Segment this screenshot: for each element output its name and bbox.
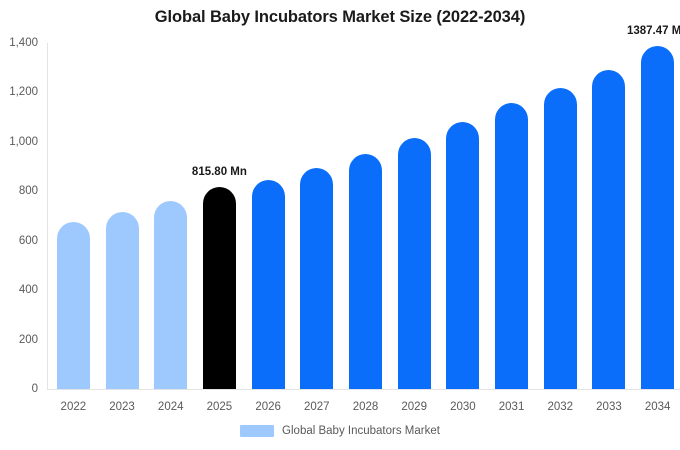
x-axis-tick-label: 2026 [255, 401, 281, 413]
bar-slot [349, 43, 382, 389]
bar-2034[interactable] [641, 46, 674, 389]
chart-title: Global Baby Incubators Market Size (2022… [0, 8, 680, 27]
bar-2029[interactable] [398, 138, 431, 389]
y-axis-tick-label: 600 [0, 235, 38, 247]
y-axis-tick-label: 1,000 [0, 136, 38, 148]
bar-slot [300, 43, 333, 389]
bar-2030[interactable] [446, 122, 479, 389]
bar-slot [398, 43, 431, 389]
y-axis-tick-label: 800 [0, 185, 38, 197]
x-axis-tick-label: 2023 [109, 401, 135, 413]
bar-slot [641, 43, 674, 389]
bar-2033[interactable] [592, 70, 625, 389]
bar-2024[interactable] [154, 201, 187, 389]
legend-swatch [240, 425, 274, 437]
bar-slot [106, 43, 139, 389]
y-axis-tick-label: 0 [0, 383, 38, 395]
x-axis-tick-label: 2025 [207, 401, 233, 413]
bar-slot [495, 43, 528, 389]
x-axis-tick-label: 2034 [645, 401, 671, 413]
bar-2026[interactable] [252, 180, 285, 389]
chart-legend: Global Baby Incubators Market [0, 425, 680, 437]
x-axis-tick-label: 2029 [401, 401, 427, 413]
x-axis-tick-label: 2028 [353, 401, 379, 413]
bar-value-label-2025: 815.80 Mn [192, 166, 247, 178]
plot-area [47, 43, 680, 389]
bar-2023[interactable] [106, 212, 139, 389]
y-axis-tick-label: 400 [0, 284, 38, 296]
x-axis-tick-label: 2027 [304, 401, 330, 413]
bar-2025[interactable] [203, 187, 236, 389]
legend-label[interactable]: Global Baby Incubators Market [282, 425, 440, 437]
bar-slot [57, 43, 90, 389]
y-axis-tick-label: 1,200 [0, 86, 38, 98]
bar-slot [203, 43, 236, 389]
bar-2028[interactable] [349, 154, 382, 389]
bar-slot [544, 43, 577, 389]
bars-layer [47, 43, 680, 389]
y-axis-tick-label: 1,400 [0, 37, 38, 49]
bar-2031[interactable] [495, 103, 528, 389]
x-axis-tick-label: 2031 [499, 401, 525, 413]
bar-slot [446, 43, 479, 389]
x-axis-line [47, 389, 680, 390]
x-axis-tick-label: 2024 [158, 401, 184, 413]
bar-slot [592, 43, 625, 389]
x-axis-tick-label: 2022 [61, 401, 87, 413]
bar-2022[interactable] [57, 222, 90, 389]
x-axis-tick-label: 2033 [596, 401, 622, 413]
x-axis-tick-label: 2030 [450, 401, 476, 413]
x-axis-tick-label: 2032 [547, 401, 573, 413]
bar-slot [154, 43, 187, 389]
chart-container: Global Baby Incubators Market Size (2022… [0, 0, 680, 450]
y-axis-tick-label: 200 [0, 334, 38, 346]
bar-2032[interactable] [544, 88, 577, 389]
bar-slot [252, 43, 285, 389]
bar-2027[interactable] [300, 168, 333, 389]
bar-value-label-2034: 1387.47 Mn [627, 25, 680, 37]
